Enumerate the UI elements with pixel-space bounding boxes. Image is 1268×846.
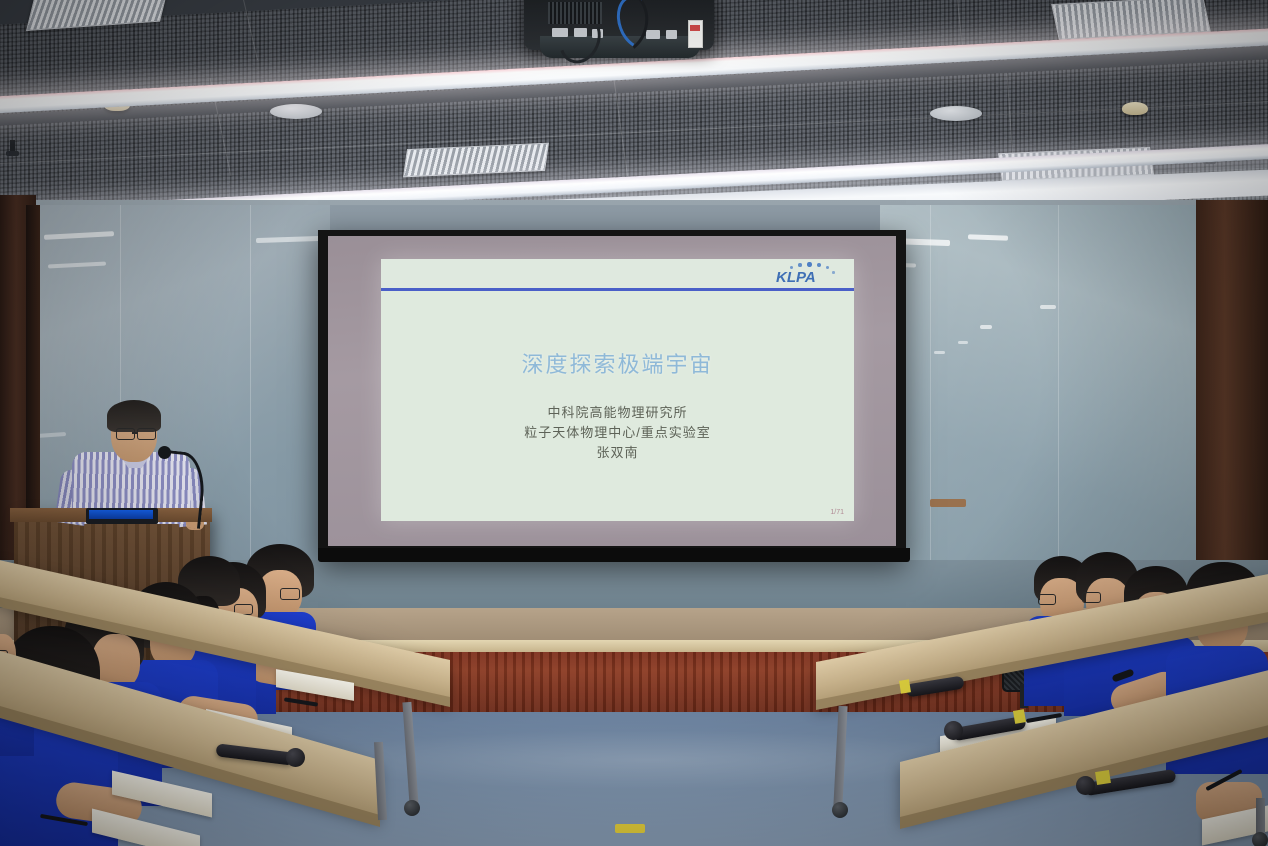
light-reflection <box>1040 305 1056 309</box>
microphone-head-icon <box>1076 776 1095 795</box>
slide-subtitle-line-3: 张双南 <box>381 443 854 463</box>
student-glasses <box>280 588 300 600</box>
wall-fixture <box>930 499 966 507</box>
screen-bottom-bar <box>318 548 910 562</box>
speaker-glasses-right-lens <box>137 428 156 440</box>
smoke-detector-icon <box>1122 102 1148 115</box>
logo-dot <box>826 266 829 269</box>
microphone-tape <box>899 679 911 693</box>
logo-dot <box>832 271 835 274</box>
desk-caster <box>832 802 848 818</box>
slide-subtitle-line-2: 粒子天体物理中心/重点实验室 <box>381 423 854 443</box>
slide-page-number: 1/71 <box>830 509 844 516</box>
student-glasses <box>1082 592 1101 603</box>
microphone-head-icon <box>944 721 963 740</box>
logo-text: KLPA <box>776 269 816 286</box>
light-reflection <box>958 341 968 344</box>
logo-dot <box>817 263 821 267</box>
ceiling-speaker-icon <box>270 104 322 119</box>
microphone-tape <box>1013 709 1026 724</box>
floor-object-yellow <box>615 824 645 833</box>
slide-subtitle: 中科院高能物理研究所 粒子天体物理中心/重点实验室 张双南 <box>381 403 854 463</box>
light-reflection <box>980 325 992 329</box>
speaker-glasses-left-lens <box>116 428 135 440</box>
microphone-head-icon <box>286 748 305 767</box>
logo-dot <box>807 262 812 267</box>
speaker-glasses-bridge <box>132 432 138 434</box>
logo-dot <box>798 263 802 267</box>
microphone-tape <box>1095 770 1111 785</box>
lecture-hall-photo: KLPA 深度探索极端宇宙 中科院高能物理研究所 粒子天体物理中心/重点实验室 … <box>0 0 1268 846</box>
projector-label-tag <box>688 20 703 48</box>
ceiling-speaker-icon <box>930 106 982 121</box>
slide-subtitle-line-1: 中科院高能物理研究所 <box>381 403 854 423</box>
laptop-screen <box>89 510 153 519</box>
wood-column-right <box>1196 200 1268 620</box>
sprinkler-head-icon <box>10 140 15 156</box>
desk-caster <box>1252 832 1268 846</box>
student-glasses <box>1038 594 1056 605</box>
presentation-slide: KLPA 深度探索极端宇宙 中科院高能物理研究所 粒子天体物理中心/重点实验室 … <box>381 259 854 521</box>
desk-caster <box>404 800 420 816</box>
slide-title: 深度探索极端宇宙 <box>381 347 854 379</box>
light-reflection <box>934 351 945 354</box>
klpa-logo: KLPA <box>776 262 842 287</box>
gooseneck-microphone-head <box>158 446 171 459</box>
projector-port <box>666 30 677 39</box>
